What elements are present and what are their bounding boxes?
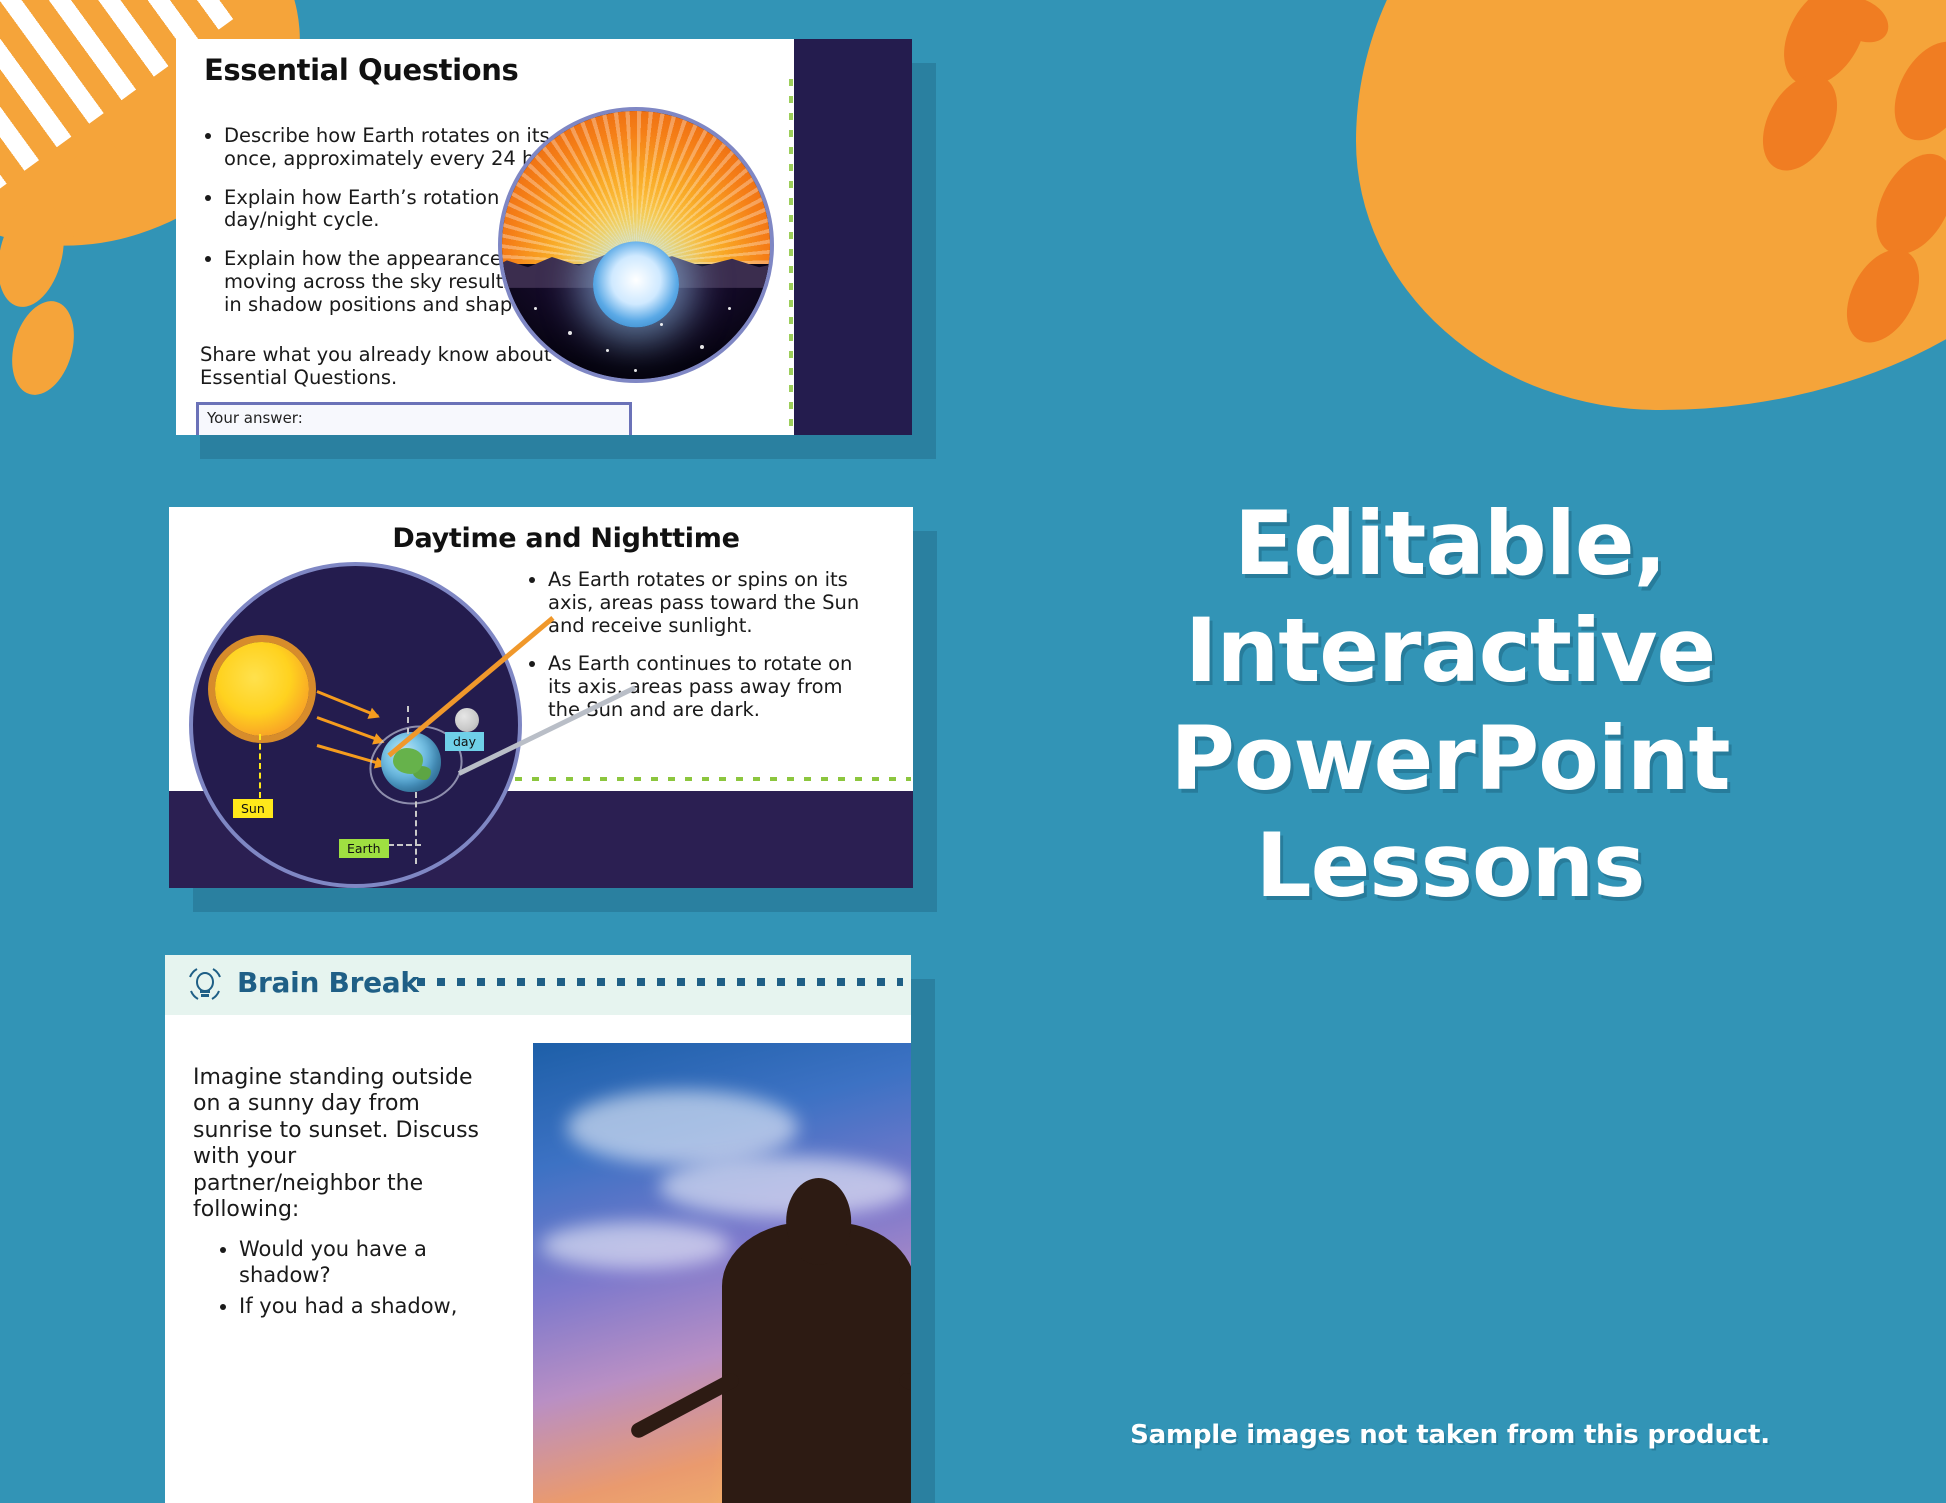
slide-accent-panel [794, 39, 912, 435]
headline-line: PowerPoint [1000, 705, 1900, 812]
poster-canvas: Essential Questions Describe how Earth r… [0, 0, 1946, 1503]
earth-sun-diagram: Sun Earth day night [189, 562, 522, 888]
star-icon [660, 323, 663, 326]
star-icon [634, 369, 637, 372]
lightbulb-icon [185, 965, 225, 1005]
silhouette-head [786, 1178, 852, 1265]
sun-graphic [215, 642, 309, 736]
sunset-photo [533, 1043, 911, 1503]
star-icon [700, 345, 704, 349]
orange-ellipse-decor [2, 294, 84, 402]
body-text: Imagine standing outside on a sunny day … [193, 1065, 483, 1325]
star-icon [744, 343, 747, 346]
person-silhouette [722, 1222, 911, 1503]
silhouette-arm-left [628, 1371, 741, 1440]
answer-input-box[interactable]: Your answer: [196, 402, 632, 435]
orange-blob-top-right [1356, 0, 1946, 410]
list-item: If you had a shadow, [239, 1294, 483, 1319]
leader-line [407, 706, 409, 734]
label-day: day [445, 732, 484, 751]
slide-essential-questions[interactable]: Essential Questions Describe how Earth r… [176, 39, 912, 435]
answer-label: Your answer: [207, 409, 303, 427]
slide-daytime-and-nighttime[interactable]: Daytime and Nighttime As Earth rotates o… [169, 507, 913, 888]
promo-headline: Editable, Interactive PowerPoint Lessons [1000, 490, 1900, 919]
dotted-divider [515, 777, 911, 781]
page-title: Daytime and Nighttime [169, 523, 913, 554]
dotted-divider [417, 978, 903, 986]
star-icon [534, 307, 537, 310]
body-paragraph: Imagine standing outside on a sunny day … [193, 1065, 479, 1222]
headline-line: Editable, [1000, 490, 1900, 597]
slide-brain-break[interactable]: Brain Break Imagine standing outside on … [165, 955, 911, 1503]
sunrise-illustration [498, 107, 774, 383]
dotted-divider [789, 79, 793, 435]
star-icon [606, 349, 609, 352]
star-icon [728, 307, 731, 310]
cloud-decor [659, 1156, 911, 1217]
label-sun: Sun [233, 799, 273, 818]
star-icon [568, 331, 572, 335]
list-item: As Earth rotates or spins on its axis, a… [548, 569, 874, 637]
cloud-decor [541, 1222, 730, 1269]
sun-disc [593, 242, 679, 328]
label-earth: Earth [339, 839, 389, 858]
leader-line [415, 792, 417, 864]
sun-rays [498, 107, 774, 264]
earth-graphic [381, 732, 441, 792]
page-title: Essential Questions [204, 53, 518, 87]
headline-line: Lessons [1000, 812, 1900, 919]
list-item: As Earth continues to rotate on its axis… [548, 653, 874, 721]
disclaimer-text: Sample images not taken from this produc… [980, 1420, 1920, 1450]
star-icon [554, 359, 557, 362]
sunlight-ray [316, 690, 378, 718]
list-item: Would you have a shadow? [239, 1237, 483, 1287]
moon-graphic [455, 708, 479, 732]
label-night: night [455, 863, 503, 882]
headline-line: Interactive [1000, 597, 1900, 704]
sub-bullet-list: Would you have a shadow? If you had a sh… [219, 1237, 483, 1319]
page-title: Brain Break [237, 966, 419, 999]
cloud-decor [567, 1090, 798, 1165]
silhouette-arm-right [897, 1370, 911, 1432]
star-icon [684, 373, 687, 376]
leader-line [259, 734, 261, 798]
